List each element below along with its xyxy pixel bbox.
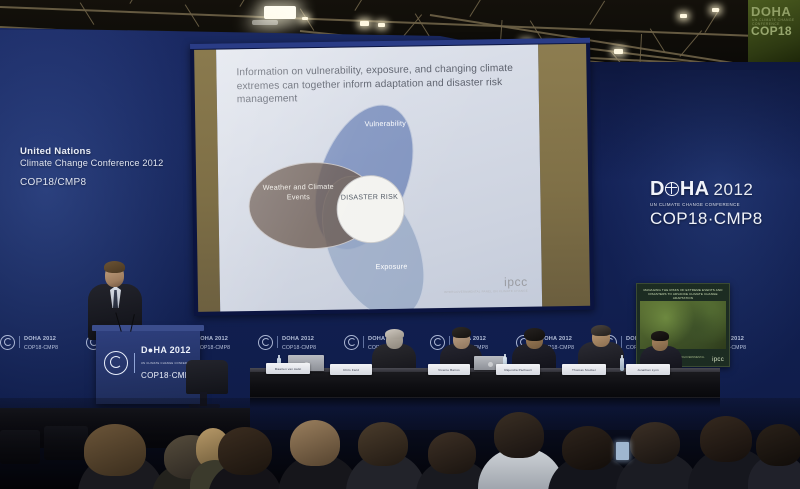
stage-light-panel xyxy=(252,20,278,25)
truss-diagonal xyxy=(414,13,430,37)
backdrop-logo-line2: COP18·CMP8 xyxy=(196,345,230,351)
truss-diagonal xyxy=(79,2,94,25)
water-bottle xyxy=(620,358,624,371)
audience-head xyxy=(562,426,614,470)
doha-subtitle: UN CLIMATE CHANGE CONFERENCE xyxy=(650,202,763,207)
truss-light xyxy=(302,17,308,20)
un-line-3: COP18/CMP8 xyxy=(20,177,163,188)
united-nations-wall-text: United Nations Climate Change Conference… xyxy=(20,146,163,188)
audience-head xyxy=(290,420,340,466)
doha-year: 2012 xyxy=(714,180,754,200)
logo-divider xyxy=(134,353,135,373)
panelist-hair xyxy=(591,325,611,336)
truss-diagonal xyxy=(239,0,254,7)
backdrop-logo-text: DOHA 2012 COP18·CMP8 xyxy=(282,333,316,352)
venn-label-exposure: Exposure xyxy=(353,261,429,272)
logo-divider xyxy=(19,336,20,348)
slide-title-text: Information on vulnerability, exposure, … xyxy=(236,62,519,107)
stage-light-panel xyxy=(264,6,296,19)
truss-diagonal xyxy=(704,9,720,33)
nameplate: Maarten van Aalst xyxy=(266,363,310,374)
green-sign-line1: DOHA xyxy=(751,4,791,19)
globe-icon xyxy=(665,182,679,196)
un-line-1: United Nations xyxy=(20,146,163,157)
nameplate: Thomas Stocker xyxy=(562,364,606,375)
unfccc-circle-c-icon xyxy=(104,351,128,375)
backdrop-logo-text: DOHA 2012 COP18·CMP8 xyxy=(196,333,230,352)
unfccc-circle-c-icon xyxy=(258,335,273,350)
venn-label-vulnerability: Vulnerability xyxy=(347,118,423,129)
podium-logo: D●HA 2012 UN CLIMATE CHANGE CONFERENCE C… xyxy=(104,344,196,381)
venn-label-disaster-risk: DISASTER RISK xyxy=(340,193,398,203)
banner-title: MANAGING THE RISKS OF EXTREME EVENTS AND… xyxy=(643,288,723,300)
speaker-podium: D●HA 2012 UN CLIMATE CHANGE CONFERENCE C… xyxy=(96,330,200,404)
wall-shadow xyxy=(560,62,800,182)
unfccc-circle-c-icon xyxy=(0,335,15,350)
panelist-hair xyxy=(651,331,669,341)
nameplate-text: Rajendra Pachauri xyxy=(496,368,540,372)
conference-photo: DOHA UN CLIMATE CHANGE CONFERENCE COP18 … xyxy=(0,0,800,489)
speaker-hair xyxy=(104,261,125,273)
audience-head xyxy=(700,416,752,462)
unfccc-circle-c-icon xyxy=(430,335,445,350)
nameplate-text: Vicente Barros xyxy=(428,368,470,372)
backdrop-logo-line1: DOHA 2012 xyxy=(24,336,56,342)
doha-letters-ha: HA xyxy=(680,178,710,201)
truss-diagonal xyxy=(129,0,144,4)
projection-screen: Information on vulnerability, exposure, … xyxy=(190,38,594,316)
green-sign-line3: COP18 xyxy=(751,24,792,38)
audience-head xyxy=(428,432,476,474)
banner-ipcc-logo: ipcc xyxy=(712,357,724,363)
doha-letter-d: D xyxy=(650,178,665,201)
venn-diagram: Weather and Climate Events Vulnerability… xyxy=(235,107,524,301)
truss-light xyxy=(378,23,385,27)
nameplate: Chris Field xyxy=(330,364,372,375)
truss-light xyxy=(712,8,719,12)
unfccc-circle-c-icon xyxy=(344,335,359,350)
audience-foreground xyxy=(0,398,800,489)
nameplate: Vicente Barros xyxy=(428,364,470,375)
nameplate-text: Thomas Stocker xyxy=(562,368,606,372)
backdrop-logo-line2: COP18·CMP8 xyxy=(24,345,58,351)
audience-head xyxy=(358,422,408,466)
panel-table-front xyxy=(250,372,720,398)
nameplate-text: Jonathan Lynn xyxy=(626,368,670,372)
truss-diagonal xyxy=(589,1,605,25)
backdrop-logo-unit: DOHA 2012 COP18·CMP8 xyxy=(0,333,86,352)
backdrop-logo-line1: DOHA 2012 xyxy=(282,336,314,342)
green-doha-sign: DOHA UN CLIMATE CHANGE CONFERENCE COP18 xyxy=(748,0,800,62)
panelist-hair xyxy=(452,327,471,338)
truss-diagonal xyxy=(354,0,369,11)
truss-diagonal xyxy=(469,0,485,17)
audience-head xyxy=(630,422,680,464)
venn-label-weather: Weather and Climate Events xyxy=(258,182,338,202)
backdrop-logo-line1: DOHA 2012 xyxy=(196,336,228,342)
podium-logo-line1: D●HA 2012 xyxy=(141,345,191,355)
presentation-slide: Information on vulnerability, exposure, … xyxy=(216,45,542,312)
logo-divider xyxy=(277,336,278,348)
audience-head xyxy=(494,412,544,458)
nameplate-text: Chris Field xyxy=(330,368,372,372)
backdrop-logo-text: DOHA 2012 COP18·CMP8 xyxy=(24,333,58,352)
screen-right-band xyxy=(538,44,590,307)
backdrop-logo-line2: COP18·CMP8 xyxy=(282,345,316,351)
panelist-hair xyxy=(524,328,545,341)
logo-divider xyxy=(621,336,622,348)
slide-ipcc-logo: ipcc INTERGOVERNMENTAL PANEL ON CLIMATE … xyxy=(443,276,528,294)
nameplate: Rajendra Pachauri xyxy=(496,364,540,375)
phone-screen[interactable] xyxy=(616,442,629,460)
un-line-2: Climate Change Conference 2012 xyxy=(20,158,163,168)
truss-light xyxy=(680,14,687,18)
nameplate: Jonathan Lynn xyxy=(626,364,670,375)
logo-divider xyxy=(363,336,364,348)
truss-light xyxy=(360,21,369,26)
panelist-hair xyxy=(385,329,404,339)
audience-head xyxy=(84,424,146,476)
truss-light xyxy=(614,49,623,54)
doha-cop-line: COP18·CMP8 xyxy=(650,209,763,229)
doha-2012-wall-logo: D HA 2012 UN CLIMATE CHANGE CONFERENCE C… xyxy=(650,178,763,229)
audience-head xyxy=(756,424,800,466)
podium-top-surface xyxy=(92,325,204,331)
nameplate-text: Maarten van Aalst xyxy=(266,367,310,371)
backdrop-logo-unit: DOHA 2012 COP18·CMP8 xyxy=(258,333,344,352)
stage-chair xyxy=(186,360,228,394)
ipcc-wordmark: ipcc xyxy=(443,276,527,289)
truss-diagonal xyxy=(184,4,199,27)
audience-head xyxy=(218,427,272,475)
doha-logo-row: D HA 2012 xyxy=(650,178,763,201)
